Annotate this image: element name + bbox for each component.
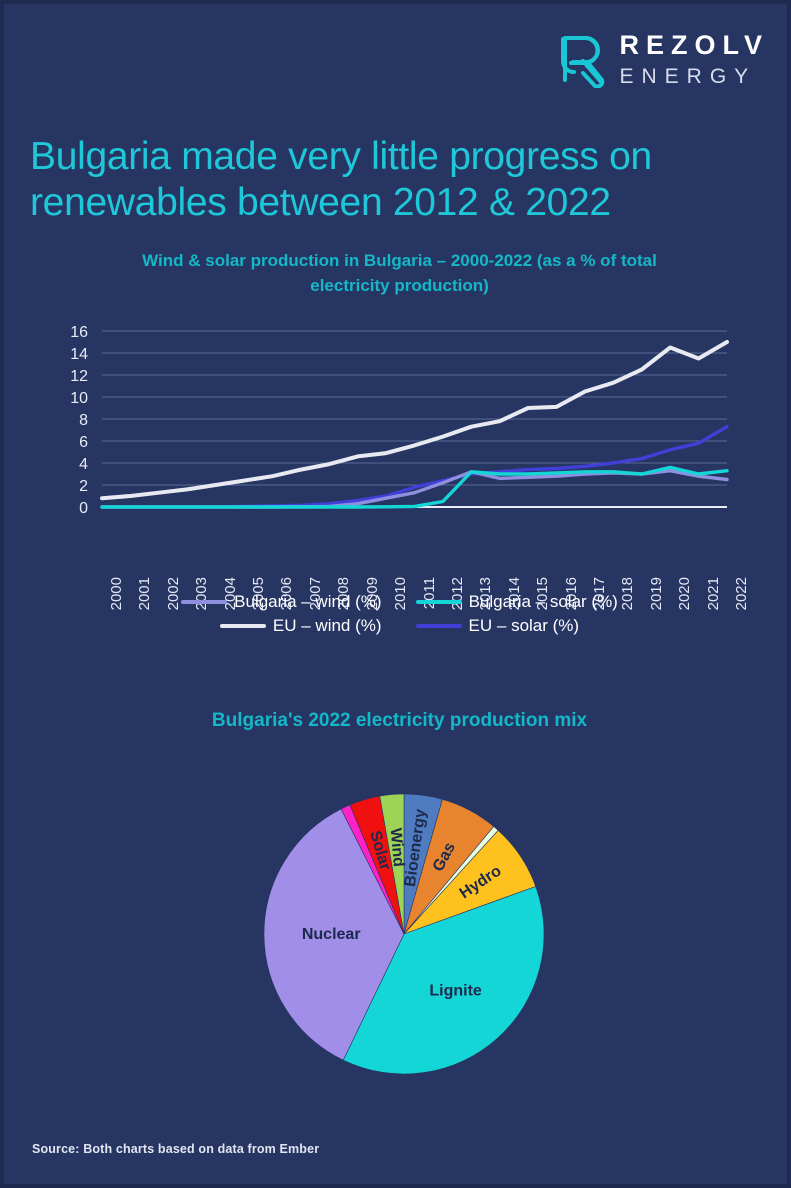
y-axis-tick-label: 6 bbox=[79, 434, 88, 451]
line-chart-plot: 0246810121416 bbox=[4, 312, 791, 527]
legend-swatch bbox=[416, 600, 462, 604]
line-series-eu-solar bbox=[102, 427, 727, 507]
legend-item[interactable]: EU – solar (%) bbox=[416, 616, 580, 636]
line-chart-svg: 0246810121416 bbox=[4, 312, 791, 527]
brand-wordmark: REZOLV ENERGY bbox=[620, 32, 770, 87]
brand-name-secondary: ENERGY bbox=[620, 66, 770, 87]
line-chart-legend: Bulgaria – wind (%)Bulgaria – solar (%)E… bbox=[4, 592, 791, 636]
pie-slice-label-lignite: Lignite bbox=[429, 982, 482, 999]
source-note: Source: Both charts based on data from E… bbox=[32, 1142, 319, 1156]
legend-swatch bbox=[220, 624, 266, 628]
legend-item[interactable]: Bulgaria – solar (%) bbox=[416, 592, 618, 612]
pie-chart-svg: LigniteNuclearHydroGasBioenergyWindSolar bbox=[4, 762, 791, 1112]
legend-row: EU – wind (%)EU – solar (%) bbox=[4, 616, 791, 636]
legend-item[interactable]: EU – wind (%) bbox=[220, 616, 382, 636]
brand-logo: REZOLV ENERGY bbox=[560, 30, 770, 88]
legend-item[interactable]: Bulgaria – wind (%) bbox=[181, 592, 381, 612]
legend-label: Bulgaria – solar (%) bbox=[469, 592, 618, 612]
y-axis-tick-label: 8 bbox=[79, 412, 88, 429]
y-axis-tick-label: 14 bbox=[70, 346, 88, 363]
line-chart-title: Wind & solar production in Bulgaria – 20… bbox=[120, 249, 680, 298]
y-axis-tick-label: 12 bbox=[70, 368, 88, 385]
pie-chart-block: LigniteNuclearHydroGasBioenergyWindSolar bbox=[4, 762, 791, 1112]
pie-slice-label-nuclear: Nuclear bbox=[302, 926, 361, 943]
legend-row: Bulgaria – wind (%)Bulgaria – solar (%) bbox=[4, 592, 791, 612]
brand-name-primary: REZOLV bbox=[620, 32, 770, 59]
legend-swatch bbox=[416, 624, 462, 628]
legend-label: EU – solar (%) bbox=[469, 616, 580, 636]
rezolv-r-mark-icon bbox=[560, 30, 606, 88]
legend-label: EU – wind (%) bbox=[273, 616, 382, 636]
y-axis-tick-label: 0 bbox=[79, 500, 88, 517]
pie-chart-title: Bulgaria's 2022 electricity production m… bbox=[4, 710, 791, 732]
line-chart-x-axis: 2000200120022003200420052006200720082009… bbox=[4, 527, 791, 587]
line-chart-block: Wind & solar production in Bulgaria – 20… bbox=[4, 249, 791, 587]
y-axis-tick-label: 2 bbox=[79, 478, 88, 495]
legend-label: Bulgaria – wind (%) bbox=[234, 592, 381, 612]
y-axis-tick-label: 4 bbox=[79, 456, 88, 473]
page-title: Bulgaria made very little progress on re… bbox=[30, 134, 750, 225]
legend-swatch bbox=[181, 600, 227, 604]
y-axis-tick-label: 16 bbox=[70, 324, 88, 341]
infographic-page: REZOLV ENERGY Bulgaria made very little … bbox=[0, 0, 791, 1188]
y-axis-tick-label: 10 bbox=[70, 390, 88, 407]
